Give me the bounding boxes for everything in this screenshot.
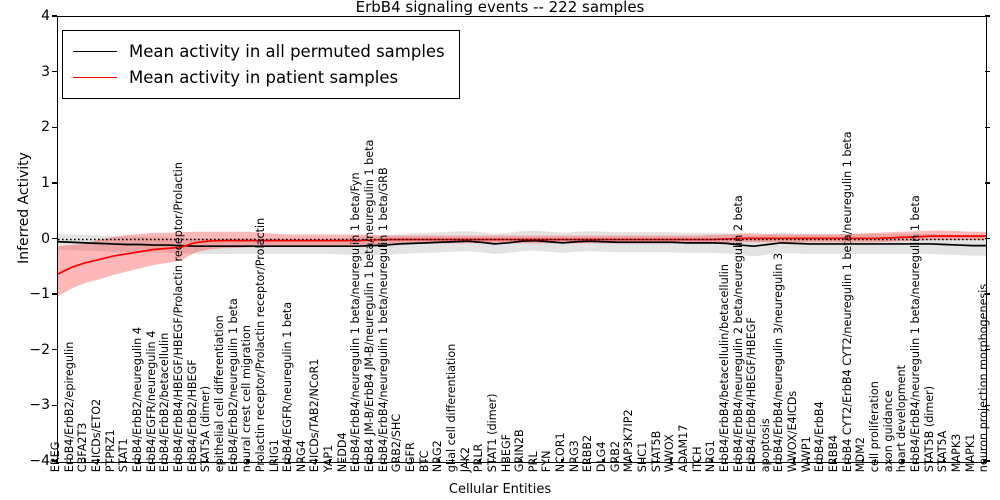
y-tick-mark xyxy=(985,127,990,128)
y-tick-mark xyxy=(52,405,57,406)
y-tick-mark xyxy=(52,71,57,72)
y-tick-mark xyxy=(52,182,57,183)
chart-figure: ErbB4 signaling events -- 222 samples In… xyxy=(0,0,1000,500)
y-tick-label: −2 xyxy=(0,342,50,358)
y-tick-label: 1 xyxy=(0,175,50,191)
y-tick-label: 4 xyxy=(0,8,50,24)
y-tick-mark xyxy=(985,460,990,461)
y-tick-mark xyxy=(985,15,990,16)
legend-swatch-patient xyxy=(73,77,117,78)
x-axis-label: Cellular Entities xyxy=(0,482,1000,497)
y-tick-mark xyxy=(52,238,57,239)
y-tick-mark xyxy=(52,349,57,350)
y-tick-mark xyxy=(52,127,57,128)
y-tick-mark xyxy=(985,293,990,294)
y-tick-mark xyxy=(985,405,990,406)
y-tick-label: 3 xyxy=(0,64,50,80)
y-tick-mark xyxy=(985,349,990,350)
y-tick-label: −4 xyxy=(0,453,50,469)
chart-legend: Mean activity in all permuted samples Me… xyxy=(62,30,460,99)
legend-label-patient: Mean activity in patient samples xyxy=(129,68,398,87)
legend-swatch-permuted xyxy=(73,51,117,52)
y-tick-label: 0 xyxy=(0,231,50,247)
y-tick-mark xyxy=(985,71,990,72)
legend-item-permuted: Mean activity in all permuted samples xyxy=(73,38,445,64)
y-tick-mark xyxy=(52,15,57,16)
y-tick-mark xyxy=(985,238,990,239)
legend-item-patient: Mean activity in patient samples xyxy=(73,64,445,90)
legend-label-permuted: Mean activity in all permuted samples xyxy=(129,42,445,61)
y-tick-label: −1 xyxy=(0,286,50,302)
y-tick-label: 2 xyxy=(0,119,50,135)
y-tick-mark xyxy=(985,182,990,183)
y-tick-mark xyxy=(52,460,57,461)
chart-title: ErbB4 signaling events -- 222 samples xyxy=(0,0,1000,16)
y-tick-mark xyxy=(52,293,57,294)
y-tick-label: −3 xyxy=(0,397,50,413)
